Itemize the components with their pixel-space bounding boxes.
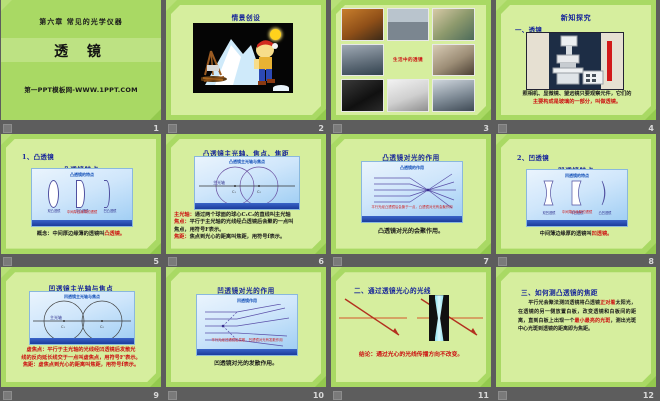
slide-5-heading: 1、凸透镜 [22, 152, 54, 161]
def-row-2: 焦距：虚焦点到光心的距离叫焦距，用符号f表示。 [9, 362, 153, 370]
para-part-0: 平行光会聚法测凹透镜将凸透镜 [518, 300, 600, 306]
microscope-shape [547, 33, 607, 89]
video-progress-bar[interactable] [527, 220, 627, 226]
slide-12-paragraph: 平行光会聚法测凹透镜将凸透镜正对着太阳光，在透镜的另一侧放置白板，改变透镜和白板… [518, 299, 636, 334]
red-label-strip [607, 41, 612, 81]
thumbnail-badge-6 [168, 257, 177, 266]
thumbnail-badge-5 [3, 257, 12, 266]
thumbnail-badge-1 [3, 124, 12, 133]
svg-text:C₁: C₁ [61, 325, 65, 329]
slide-cell-2[interactable]: 情景创设 [165, 0, 330, 134]
slide-cell-4[interactable]: 新知探究 一、透镜 [495, 0, 660, 134]
svg-text:主光轴: 主光轴 [50, 314, 62, 320]
snow-pile [273, 85, 289, 91]
concave-lens-glass [435, 295, 444, 341]
center-caption-text: 生活中的透镜 [393, 57, 423, 63]
slide-cell-10[interactable]: 凹透镜对光的作用 凹透镜作用 [165, 267, 330, 401]
def-label-2: 焦距： [23, 362, 39, 368]
thumbnail-badge-11 [333, 391, 342, 400]
slide-9-definitions: 虚焦点：平行于主光轴的光线经凹透镜后发散光 线的反向延长线交于一点叫虚焦点，用符… [9, 347, 153, 370]
meniscus-glyph [104, 180, 110, 208]
def-text-2: 虚焦点到光心的距离叫焦距，用符号f表示。 [38, 362, 139, 368]
video-red-note: 平行光经凸透镜后会聚于一点，凸透镜对光有会聚作用 [362, 204, 462, 209]
video-caption: 凸透镜的作用 [362, 165, 462, 171]
def-text-2: 焦点，用符号F表示。 [174, 227, 224, 233]
photo-student-group [341, 44, 384, 77]
video-panel-convex-features[interactable]: 凸透镜的特点 双凸透镜 平凸透镜 凹凸透镜 中间厚边缘薄的透镜 [31, 168, 133, 227]
cartoon-person [247, 37, 285, 89]
slide-5-body: 概念：中间厚边缘薄的透镜叫凸透镜。 [11, 231, 151, 239]
chapter-label: 第六章 常见的光学仪器 [1, 17, 161, 27]
photo-elder-reading [432, 44, 475, 77]
slide-4-body-line1: 照相机、显微镜、望远镜只要观察元件，它们的 [510, 91, 644, 99]
def-row-0: 虚焦点：平行于主光轴的光线经凹透镜后发散光 [9, 347, 153, 355]
def-row-1: 焦点：平行于主光轴的光线经凸透镜后会聚的一点叫 [174, 219, 318, 227]
slide-number-10: 10 [313, 391, 324, 400]
slide-number-6: 6 [318, 257, 324, 266]
def-text-3: 焦点到光心的距离叫焦距，用符号f表示。 [190, 234, 286, 240]
slide-number-1: 1 [153, 124, 159, 133]
cartoon-illustration [193, 23, 293, 93]
photo-auditorium [432, 79, 475, 112]
svg-text:主光轴: 主光轴 [213, 179, 225, 185]
slide-4-body-line2: 主要构成是玻璃的一部分，叫做透镜。 [510, 99, 644, 107]
thumbnail-badge-9 [3, 391, 12, 400]
optical-axis-diagram: 主光轴 C₁ C₂ [195, 164, 299, 208]
video-progress-bar[interactable] [362, 216, 462, 222]
concave-lens-block [429, 295, 449, 341]
slide-1[interactable]: 第六章 常见的光学仪器 透 镜 第一PPT模板网-WWW.1PPT.COM [1, 0, 161, 120]
slide-10[interactable]: 凹透镜对光的作用 凹透镜作用 [166, 267, 326, 387]
def-text-1: 平行于主光轴的光线经凸透镜后会聚的一点叫 [190, 219, 294, 225]
para-part-4: 最小最亮的光斑 [574, 318, 610, 324]
video-panel-convex-axis[interactable]: 凸透镜主光轴与焦点 主光轴 C₁ C₂ [194, 156, 300, 210]
slide-number-12: 12 [643, 391, 654, 400]
convex-lens-row: 双凸透镜 平凸透镜 凹凸透镜 [32, 182, 132, 212]
slide-12[interactable]: 三、如何测凸透镜的焦距 平行光会聚法测凹透镜将凸透镜正对着太阳光，在透镜的另一侧… [496, 267, 656, 387]
slide-5-body-highlight: 凸透镜。 [104, 231, 125, 237]
slide-number-3: 3 [483, 124, 489, 133]
video-panel-convex-action[interactable]: 凸透镜的作用 平行光经凸透镜后会聚于一点，凸透镜 [361, 161, 463, 223]
slide-6[interactable]: 凸透镜主光轴、焦点、焦距 凸透镜主光轴与焦点 主光轴 C₁ C₂ 主光轴：通过两… [166, 134, 326, 254]
video-panel-concave-action[interactable]: 凹透镜作用 平行光经凹 [196, 294, 298, 356]
def-text-0: 平行于主光轴的光线经凹透镜后发散光 [47, 347, 135, 353]
slide-2-title: 情景创设 [171, 12, 321, 22]
def-label-0: 主光轴： [174, 212, 195, 218]
slide-8-heading: 2、凹透镜 [517, 153, 549, 162]
slide-cell-6[interactable]: 凸透镜主光轴、焦点、焦距 凸透镜主光轴与焦点 主光轴 C₁ C₂ 主光轴：通过两… [165, 134, 330, 268]
slide-9[interactable]: 凹透镜主光轴与焦点 凹透镜主光轴与焦点 主光轴 C₁ C₂ 虚焦点：平行于主光轴… [1, 267, 161, 387]
def-label-3: 焦距： [174, 234, 190, 240]
biconcave-glyph [543, 180, 554, 206]
slide-number-9: 9 [153, 391, 159, 400]
video-red-note: 中间薄边缘厚的透镜 [527, 209, 627, 214]
slide-5-body-plain: 概念：中间厚边缘薄的透镜叫 [37, 231, 104, 237]
slide-8-body-highlight: 凹透镜。 [592, 231, 613, 237]
page-title: 透 镜 [1, 41, 161, 61]
video-panel-concave-axis[interactable]: 凹透镜主光轴与焦点 主光轴 C₁ C₂ [29, 291, 135, 345]
video-progress-bar[interactable] [32, 220, 132, 226]
def-label-0: 虚焦点： [27, 347, 48, 353]
slide-7[interactable]: 凸透镜对光的作用 凸透镜的作用 [331, 134, 491, 254]
video-progress-bar[interactable] [195, 203, 299, 209]
thumbnail-badge-12 [498, 391, 507, 400]
slide-2[interactable]: 情景创设 [166, 0, 326, 120]
para-part-1: 正对着 [600, 300, 615, 306]
microscope-photo [526, 32, 624, 90]
slide-8-body-plain: 中间薄边缘厚的透镜叫 [540, 231, 592, 237]
slide-10-body: 凹透镜对光的发散作用。 [176, 360, 316, 368]
slide-number-4: 4 [648, 124, 654, 133]
photo-grid: 生活中的透镜 [341, 8, 475, 112]
slide-number-7: 7 [483, 257, 489, 266]
def-row-0: 主光轴：通过两个球面的球心C₁C₂的直线叫主光轴 [174, 212, 318, 220]
slide-7-body: 凸透镜对光的会聚作用。 [341, 228, 481, 237]
slide-cell-12[interactable]: 三、如何测凸透镜的焦距 平行光会聚法测凹透镜将凸透镜正对着太阳光，在透镜的另一侧… [495, 267, 660, 401]
video-panel-concave-features[interactable]: 凹透镜的特点 双凹透镜 平凹透镜 [526, 169, 628, 227]
slide-8-body: 中间薄边缘厚的透镜叫凹透镜。 [506, 231, 646, 239]
svg-text:C₂: C₂ [100, 325, 104, 329]
thumbnail-badge-2 [168, 124, 177, 133]
slide-cell-5[interactable]: 1、凸透镜 凸透镜特点 凸透镜的特点 双凸透镜 平凸透镜 凹凸 [0, 134, 165, 268]
photo-tiananmen-group [387, 8, 430, 41]
video-progress-bar[interactable] [30, 338, 134, 344]
photo-microscope-lab [432, 8, 475, 41]
slide-11[interactable]: 二、通过透镜光心的光线 结论：通过光心的光线传播方向不改变。 [331, 267, 491, 387]
slide-cell-8[interactable]: 2、凹透镜 凹透镜特点 凹透镜的特点 双凹透镜 [495, 134, 660, 268]
slide-5[interactable]: 1、凸透镜 凸透镜特点 凸透镜的特点 双凸透镜 平凸透镜 凹凸 [1, 134, 161, 254]
slide-cell-1[interactable]: 第六章 常见的光学仪器 透 镜 第一PPT模板网-WWW.1PPT.COM 1 [0, 0, 165, 134]
slide-number-2: 2 [318, 124, 324, 133]
slide-12-heading: 三、如何测凸透镜的焦距 [521, 287, 598, 297]
thumbnail-badge-4 [498, 124, 507, 133]
slide-cell-3[interactable]: 生活中的透镜 3 [330, 0, 495, 134]
slide-number-8: 8 [648, 257, 654, 266]
center-caption: 生活中的透镜 [387, 44, 430, 77]
photo-camera-operator [341, 8, 384, 41]
def-label-1: 焦点： [174, 219, 190, 225]
slide-cell-11[interactable]: 二、通过透镜光心的光线 结论：通过光心的光线传播方向不改变。 11 [330, 267, 495, 401]
slide-number-11: 11 [478, 391, 489, 400]
def-text-1: 线的反向延长线交于一点叫虚焦点，用符号F'表示。 [21, 355, 140, 361]
photo-projector [387, 79, 430, 112]
thumbnail-badge-10 [168, 391, 177, 400]
slide-11-conclusion: 结论：通过光心的光线传播方向不改变。 [341, 351, 481, 359]
svg-text:C₂: C₂ [257, 190, 261, 194]
biconvex-glyph [48, 180, 59, 208]
slide-6-definitions: 主光轴：通过两个球面的球心C₁C₂的直线叫主光轴 焦点：平行于主光轴的光线经凸透… [174, 212, 318, 242]
campfire-shape [201, 47, 247, 91]
video-red-note: 中间厚边缘薄的透镜 [32, 209, 132, 214]
planoconvex-glyph [76, 180, 85, 208]
slide-11-heading: 二、通过透镜光心的光线 [354, 285, 431, 295]
slide-cell-9[interactable]: 凹透镜主光轴与焦点 凹透镜主光轴与焦点 主光轴 C₁ C₂ 虚焦点：平行于主光轴… [0, 267, 165, 401]
slide-8[interactable]: 2、凹透镜 凹透镜特点 凹透镜的特点 双凹透镜 [496, 134, 656, 254]
slide-4-title: 新知探究 [501, 13, 651, 23]
photo-wall-left [527, 33, 549, 89]
video-caption: 凹透镜的特点 [527, 173, 627, 179]
video-caption: 凸透镜的特点 [32, 172, 132, 178]
ray-diagram-svg [337, 295, 485, 341]
thumbnail-badge-8 [498, 257, 507, 266]
def-row-3: 焦距：焦点到光心的距离叫焦距，用符号f表示。 [174, 234, 318, 242]
convexconcave-glyph [599, 180, 610, 206]
slide-3[interactable]: 生活中的透镜 [331, 0, 491, 120]
thumbnail-badge-3 [333, 124, 342, 133]
slide-4[interactable]: 新知探究 一、透镜 [496, 0, 656, 120]
ray-through-center-figure [337, 295, 485, 341]
thumbnail-badge-7 [333, 257, 342, 266]
credit-text: 第一PPT模板网-WWW.1PPT.COM [1, 84, 161, 94]
video-red-note: 平行光经凹透镜后发散，凹透镜对光有发散作用 [197, 337, 297, 342]
slide-thumbnail-grid: 第六章 常见的光学仪器 透 镜 第一PPT模板网-WWW.1PPT.COM 1 … [0, 0, 660, 401]
slide-number-5: 5 [153, 257, 159, 266]
para-part-2: 太阳 [616, 300, 626, 306]
video-progress-bar[interactable] [197, 349, 297, 355]
svg-text:C₁: C₁ [232, 190, 236, 194]
concave-axis-diagram: 主光轴 C₁ C₂ [30, 299, 134, 343]
slide-cell-7[interactable]: 凸透镜对光的作用 凸透镜的作用 [330, 134, 495, 268]
planoconcave-glyph [571, 180, 582, 206]
def-text-0: 通过两个球面的球心C₁C₂的直线叫主光轴 [195, 212, 291, 218]
photo-binoculars [341, 79, 384, 112]
